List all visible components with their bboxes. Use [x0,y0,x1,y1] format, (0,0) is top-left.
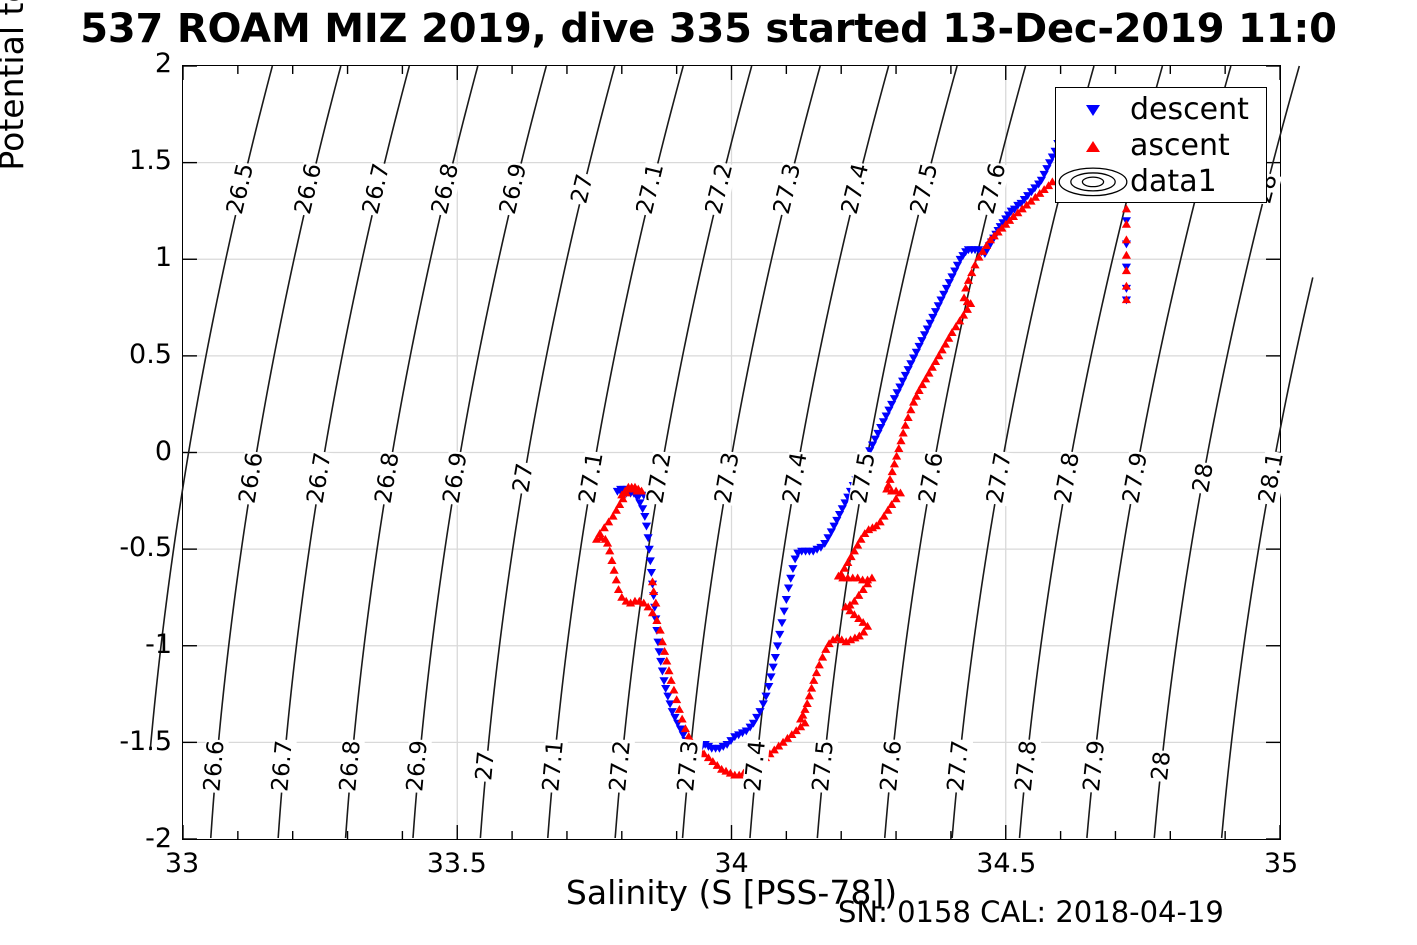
page-title-text: 537 ROAM MIZ 2019, dive 335 started 13-D… [80,6,1337,52]
y-tick-label: 0.5 [129,339,172,370]
y-tick-label: -1 [145,629,172,660]
y-tick-label: -0.5 [119,532,172,563]
y-tick-label: -1.5 [119,726,172,757]
contour-level-label: 27.3 [675,739,703,794]
contour-level-label: 28 [1190,460,1218,495]
sensor-calibration-note: SN: 0158 CAL: 2018-04-19 [838,895,1224,929]
y-tick-label: 2 [155,48,172,79]
y-axis-title: Potential temperature σ0 (°C) [0,0,37,188]
contour-level-label: 26.6 [202,739,230,794]
contour-level-label: 27.4 [742,739,770,794]
legend-item-data1[interactable]: data1 [1056,164,1266,200]
contour-rings-icon [1056,165,1130,199]
contour-level-label: 28 [1149,750,1175,784]
legend-item-descent[interactable]: descent [1056,92,1266,128]
page-title: 537 ROAM MIZ 2019, dive 335 started 13-D… [0,6,1417,52]
legend-label-data1: data1 [1130,167,1217,197]
contour-level-label: 26.8 [337,739,365,794]
triangle-down-icon [1056,105,1130,116]
contour-level-label: 27 [510,460,538,495]
contour-level-label: 27.9 [1080,739,1108,794]
legend-label-ascent: ascent [1130,131,1230,161]
contour-level-label: 27.2 [607,739,635,794]
triangle-up-icon [1056,141,1130,152]
contour-level-label: 26.7 [269,739,297,794]
contour-level-label: 27.5 [810,739,838,794]
contour-level-label: 27.1 [540,739,568,794]
series-descent [613,132,1131,753]
contour-level-label: 27.7 [945,739,973,794]
contour-level-label: 26.9 [404,739,432,794]
y-tick-label: 1 [155,242,172,273]
legend[interactable]: descent ascent data1 [1055,87,1267,203]
legend-item-ascent[interactable]: ascent [1056,128,1266,164]
y-axis-title-prefix: Potential temperature [0,0,31,171]
y-tick-label: 1.5 [129,145,172,176]
legend-label-descent: descent [1130,95,1249,125]
y-tick-label: 0 [155,436,172,467]
contour-level-label: 27 [473,750,499,783]
contour-level-label: 27.8 [1013,739,1041,794]
contour-level-label: 27.6 [878,739,906,794]
